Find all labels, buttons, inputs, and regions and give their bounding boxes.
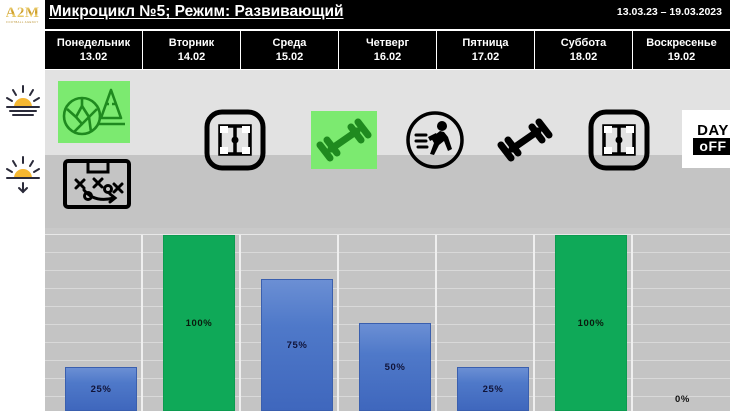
- bar-tuesday[interactable]: 100%: [163, 235, 235, 411]
- bar-value-label: 100%: [186, 318, 213, 329]
- session-time-column: [0, 70, 45, 228]
- day-name: Суббота: [561, 37, 607, 50]
- bar-monday[interactable]: 25%: [65, 367, 137, 411]
- day-header-cell-wednesday[interactable]: Среда 15.02: [241, 31, 339, 69]
- day-date: 19.02: [668, 50, 696, 64]
- gridline-v: [337, 235, 339, 411]
- session-tile-saturday-morning[interactable]: [585, 106, 653, 174]
- tactics-board-icon: [62, 158, 132, 210]
- day-date: 13.02: [80, 50, 108, 64]
- chart-top-strip: [45, 228, 730, 235]
- day-name: Понедельник: [57, 37, 130, 50]
- bar-value-label: 50%: [385, 362, 406, 373]
- date-range: 13.03.23 – 19.03.2023: [617, 6, 722, 18]
- day-date: 16.02: [374, 50, 402, 64]
- session-icon-band: DAY oFF: [45, 70, 730, 228]
- load-percentage-chart: 25% 100% 75% 50% 25% 100% 0%: [45, 228, 730, 411]
- sunrise-icon: [4, 82, 42, 122]
- bar-saturday[interactable]: 100%: [555, 235, 627, 411]
- gridline-h: [45, 252, 730, 253]
- day-date: 17.02: [472, 50, 500, 64]
- dumbbell-icon: [313, 113, 375, 167]
- app-header: A2M FOOTBALL AGENCY Микроцикл №5; Режим:…: [0, 0, 730, 29]
- session-tile-monday-evening[interactable]: [61, 153, 133, 215]
- gridline-v: [141, 235, 143, 411]
- day-name: Среда: [273, 37, 307, 50]
- day-name: Пятница: [462, 37, 508, 50]
- day-name: Четверг: [366, 37, 409, 50]
- session-tile-monday-morning[interactable]: [58, 81, 130, 143]
- day-date: 18.02: [570, 50, 598, 64]
- logo-subtitle: FOOTBALL AGENCY: [6, 21, 38, 24]
- running-circle-icon: [404, 109, 466, 171]
- session-tile-tuesday-morning[interactable]: [201, 106, 269, 174]
- bar-value-label: 25%: [91, 384, 112, 395]
- day-header-cell-sunday[interactable]: Воскресенье 19.02: [633, 31, 730, 69]
- session-tile-thursday-morning[interactable]: [402, 107, 468, 173]
- gridline-h: [45, 270, 730, 271]
- bar-value-label-sunday: 0%: [675, 394, 690, 405]
- bar-value-label: 100%: [578, 318, 605, 329]
- gridline-h: [45, 288, 730, 289]
- bar-friday[interactable]: 25%: [457, 367, 529, 411]
- ball-cone-icon: [61, 84, 127, 140]
- day-name: Вторник: [169, 37, 214, 50]
- day-header-cell-monday[interactable]: Понедельник 13.02: [45, 31, 143, 69]
- gridline-v: [631, 235, 633, 411]
- session-tile-friday-morning[interactable]: [492, 111, 558, 169]
- day-off-line1: DAY: [697, 123, 729, 138]
- day-date: 14.02: [178, 50, 206, 64]
- pitch-icon: [588, 109, 650, 171]
- day-date: 15.02: [276, 50, 304, 64]
- day-header-row: Понедельник 13.02 Вторник 14.02 Среда 15…: [45, 30, 730, 70]
- gridline-v: [239, 235, 241, 411]
- sunset-icon: [4, 155, 42, 195]
- day-header-cell-friday[interactable]: Пятница 17.02: [437, 31, 535, 69]
- day-header-cell-tuesday[interactable]: Вторник 14.02: [143, 31, 241, 69]
- gridline-h: [45, 306, 730, 307]
- session-tile-sunday-day-off[interactable]: DAY oFF: [682, 110, 730, 168]
- bar-wednesday[interactable]: 75%: [261, 279, 333, 411]
- logo-text: A2M: [6, 6, 40, 20]
- chart-left-margin: [0, 228, 45, 411]
- session-tile-wednesday-morning[interactable]: [311, 111, 377, 169]
- day-name: Воскресенье: [646, 37, 717, 50]
- gridline-v: [533, 235, 535, 411]
- page-title: Микроцикл №5; Режим: Развивающий: [49, 3, 344, 21]
- day-off-line2: oFF: [693, 138, 730, 155]
- pitch-icon: [204, 109, 266, 171]
- bar-thursday[interactable]: 50%: [359, 323, 431, 411]
- bar-value-label: 25%: [483, 384, 504, 395]
- day-header-cell-saturday[interactable]: Суббота 18.02: [535, 31, 633, 69]
- bar-value-label: 75%: [287, 340, 308, 351]
- logo: A2M FOOTBALL AGENCY: [0, 0, 45, 29]
- gridline-v: [435, 235, 437, 411]
- day-header-cell-thursday[interactable]: Четверг 16.02: [339, 31, 437, 69]
- dumbbell-icon: [494, 113, 556, 167]
